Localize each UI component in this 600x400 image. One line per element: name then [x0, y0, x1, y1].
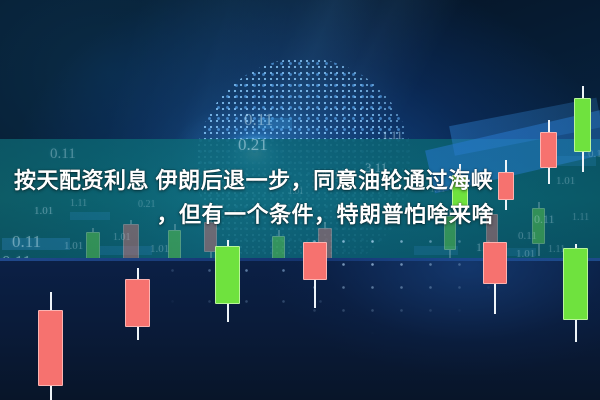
candlestick-body: [303, 242, 327, 280]
candlestick-body: [563, 248, 588, 320]
candlestick-body: [483, 242, 507, 284]
headline-line-2: ，但有一个条件，特朗普怕啥来啥: [14, 198, 586, 232]
headline: 按天配资利息 伊朗后退一步，同意油轮通过海峡 ，但有一个条件，特朗普怕啥来啥: [0, 164, 600, 232]
candlestick-body: [38, 310, 63, 386]
candlestick-body: [215, 246, 240, 304]
candlestick-body: [125, 279, 150, 327]
headline-line-1: 按天配资利息 伊朗后退一步，同意油轮通过海峡: [14, 164, 586, 198]
news-thumbnail-image: 0.111.011.110.110.111.011.010.211.010.11…: [0, 0, 600, 400]
